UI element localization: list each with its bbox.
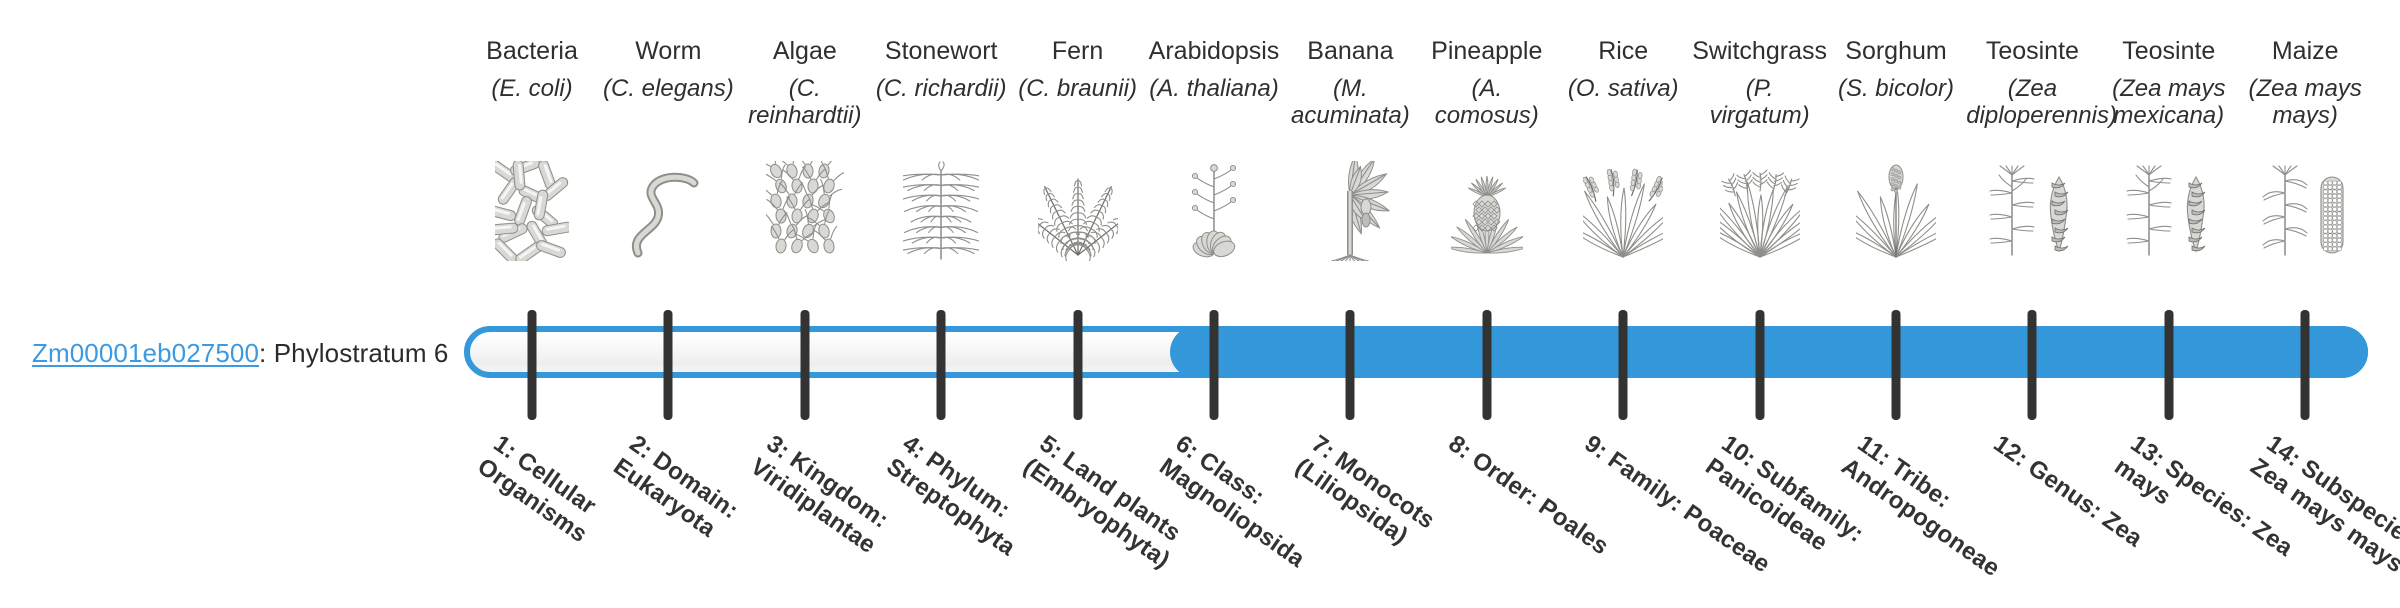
rank-labels-group: 1: Cellular Organisms2: Domain: Eukaryot…	[464, 0, 2368, 580]
gene-id-link[interactable]: Zm00001eb027500	[32, 338, 259, 368]
gene-phylostratum-label: Zm00001eb027500: Phylostratum 6	[32, 338, 449, 369]
phylostratum-value-text: Phylostratum 6	[274, 338, 449, 368]
rank-text: Cellular Organisms	[472, 446, 601, 548]
phylostratum-diagram: Zm00001eb027500: Phylostratum 6 Bacteria…	[0, 0, 2400, 580]
rank-number: 8:	[1443, 430, 1476, 465]
rank-text: Order: Poales	[1467, 446, 1614, 560]
gene-label-separator: :	[259, 338, 274, 368]
rank-number: 12:	[1989, 430, 2033, 472]
